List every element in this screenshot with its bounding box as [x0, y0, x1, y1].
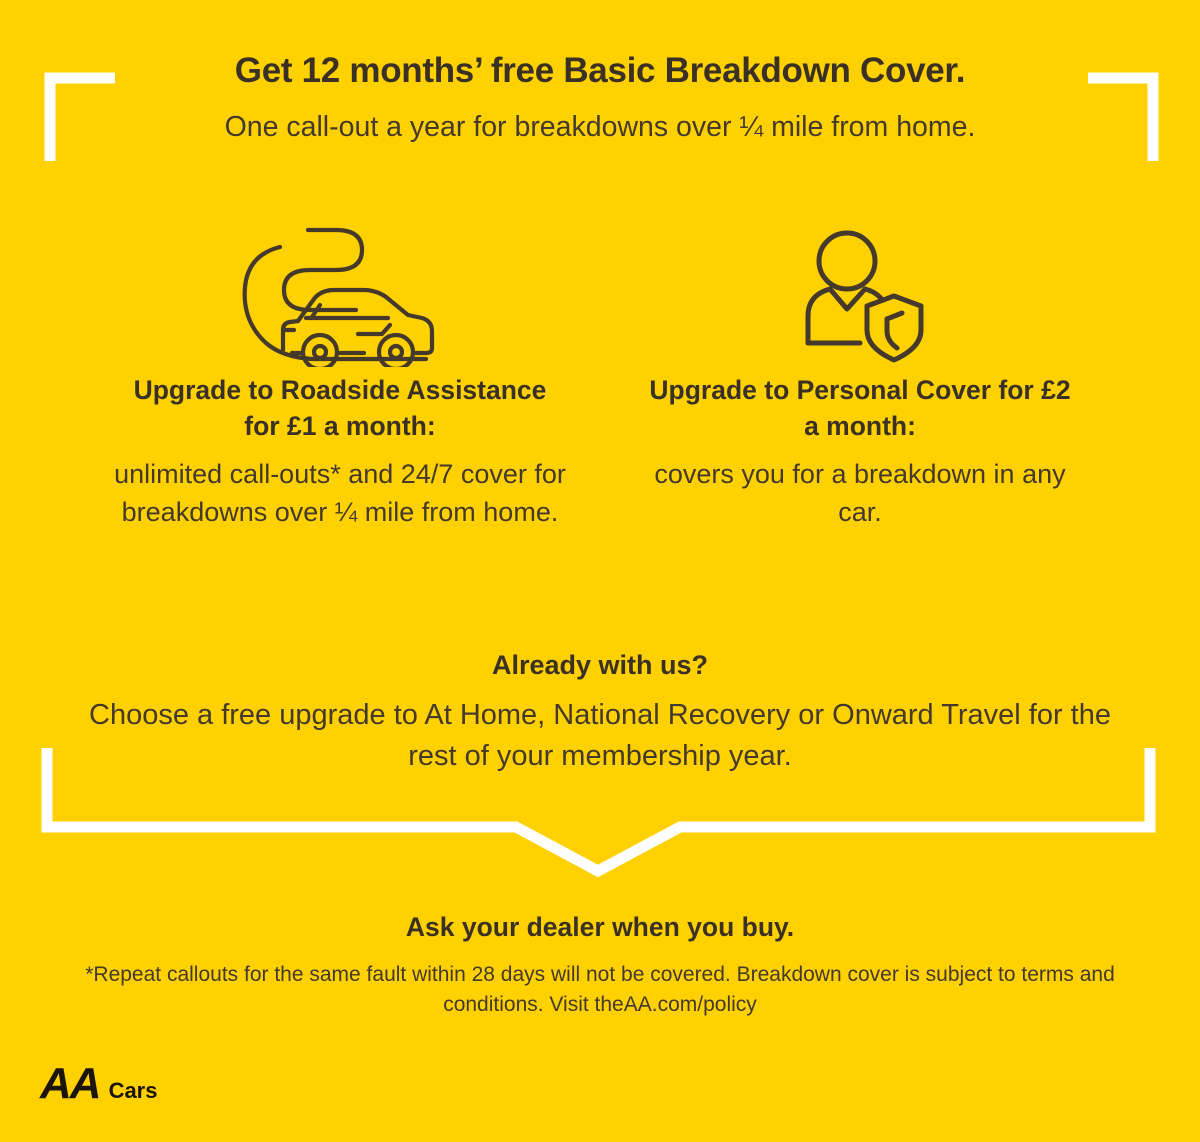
already-with-us-section: Already with us? Choose a free upgrade t… [0, 650, 1200, 778]
already-with-us-heading: Already with us? [0, 650, 1200, 681]
already-with-us-body: Choose a free upgrade to At Home, Nation… [70, 695, 1130, 778]
header: Get 12 months’ free Basic Breakdown Cove… [0, 50, 1200, 144]
feature-roadside-assistance: Upgrade to Roadside Assistance for £1 a … [100, 212, 580, 532]
aa-cars-logo: AA Cars [40, 1062, 157, 1106]
feature-body: unlimited call-outs* and 24/7 cover for … [105, 455, 575, 533]
person-with-shield-icon [790, 212, 930, 372]
feature-columns: Upgrade to Roadside Assistance for £1 a … [0, 212, 1200, 532]
page-subtitle: One call-out a year for breakdowns over … [0, 110, 1200, 144]
aa-logo-mark: AA [40, 1062, 100, 1106]
car-with-winding-road-icon [240, 212, 440, 372]
feature-heading: Upgrade to Personal Cover for £2 a month… [645, 372, 1075, 445]
disclaimer-text: *Repeat callouts for the same fault with… [85, 960, 1115, 1020]
call-to-action-text: Ask your dealer when you buy. [0, 912, 1200, 943]
promo-poster: Get 12 months’ free Basic Breakdown Cove… [0, 0, 1200, 1142]
page-title: Get 12 months’ free Basic Breakdown Cove… [0, 50, 1200, 91]
feature-body: covers you for a breakdown in any car. [635, 455, 1085, 533]
feature-heading: Upgrade to Roadside Assistance for £1 a … [125, 372, 555, 445]
footer-message: Ask your dealer when you buy. *Repeat ca… [0, 912, 1200, 1020]
aa-logo-wordmark: Cars [109, 1080, 158, 1102]
feature-personal-cover: Upgrade to Personal Cover for £2 a month… [620, 212, 1100, 532]
